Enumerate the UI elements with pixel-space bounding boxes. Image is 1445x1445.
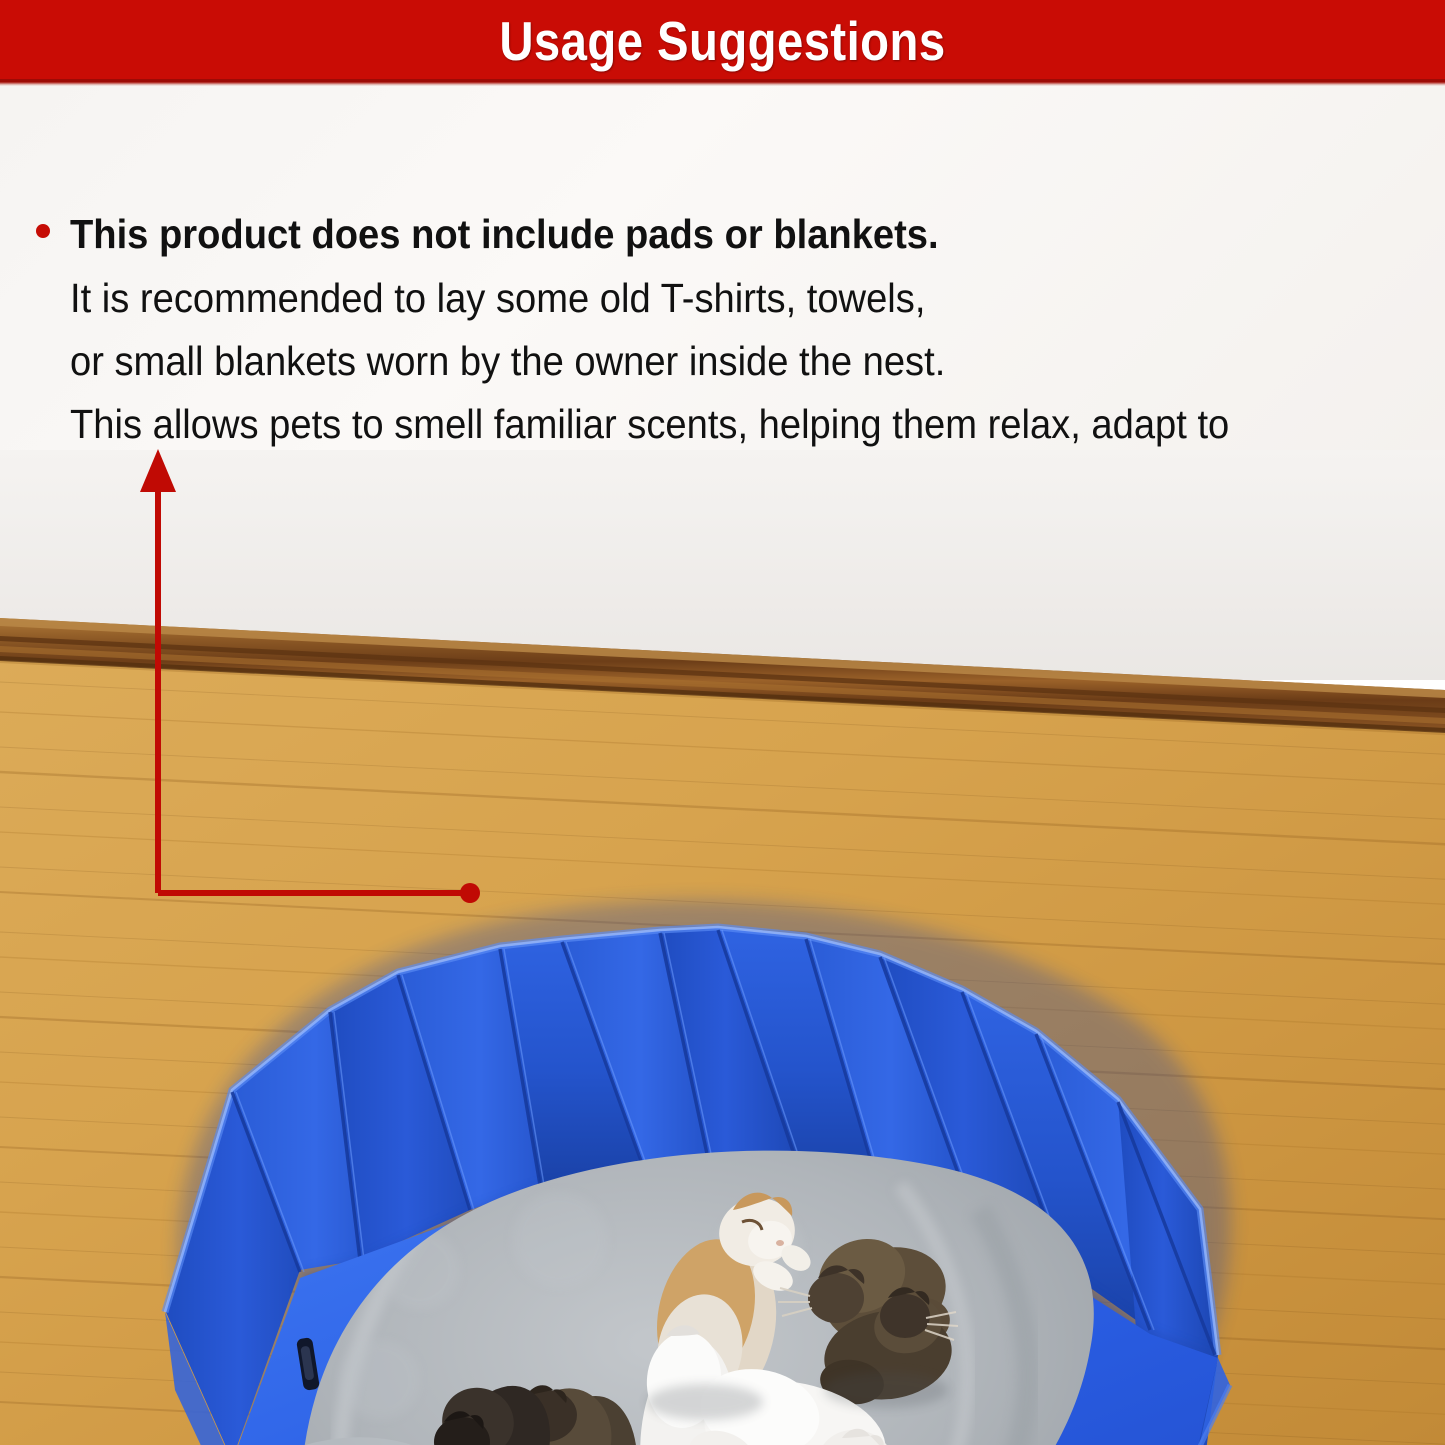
note-line-2: It is recommended to lay some old T-shir… <box>70 278 925 319</box>
product-photo <box>0 450 1445 1445</box>
note-line-1: This product does not include pads or bl… <box>70 214 939 255</box>
banner: Usage Suggestions <box>0 0 1445 82</box>
note-line-3: or small blankets worn by the owner insi… <box>70 341 945 382</box>
usage-suggestions-infographic: Usage Suggestions This product does not … <box>0 0 1445 1445</box>
notes-block: This product does not include pads or bl… <box>0 86 1445 450</box>
note-line-4: This allows pets to smell familiar scent… <box>70 404 1229 445</box>
page-title: Usage Suggestions <box>499 14 945 69</box>
bullet-point-icon <box>36 224 50 238</box>
scene-illustration <box>0 450 1445 1445</box>
